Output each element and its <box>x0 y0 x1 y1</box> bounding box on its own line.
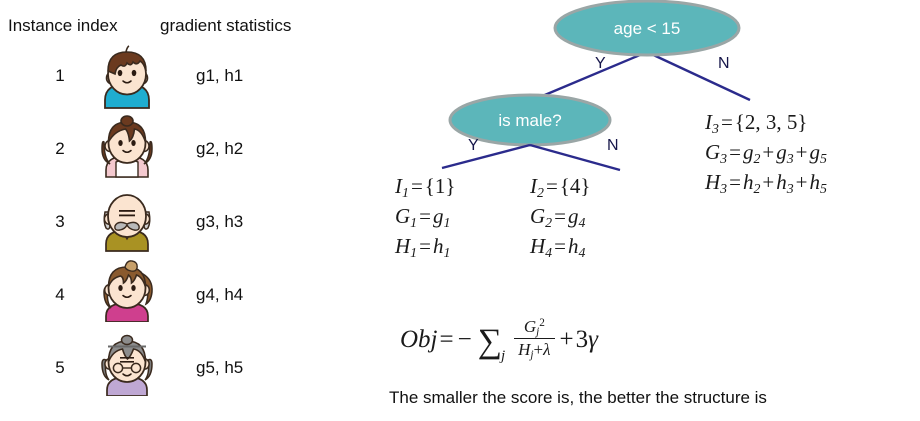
leaf-1-hessian-sum: H1=h1 <box>395 232 455 262</box>
gamma-symbol: γ <box>588 326 598 354</box>
objective-formula: Obj = − ∑ j Gj2 Hj+λ + 3 γ <box>400 318 598 361</box>
table-row-stats: g1, h1 <box>196 66 243 86</box>
table-row-index: 3 <box>40 212 80 232</box>
objective-equals: = <box>438 326 456 354</box>
leaf-3-statistics: I3={2, 3, 5} G3=g2+g3+g5 H3=h2+h3+h5 <box>705 108 827 197</box>
branch-label-child-yes: Y <box>468 137 479 155</box>
young-woman-avatar-icon <box>96 256 158 322</box>
decision-tree-graphic <box>380 0 920 200</box>
tree-node-age <box>555 1 739 55</box>
table-row-index: 2 <box>40 139 80 159</box>
table-row-index: 4 <box>40 285 80 305</box>
leaf-1-gradient-sum: G1=g1 <box>395 202 455 232</box>
summation-index: j <box>501 348 505 365</box>
leaf-2-index-set: I2={4} <box>530 172 590 202</box>
old-woman-avatar-icon <box>96 330 158 396</box>
summation-icon: ∑ <box>474 330 503 354</box>
table-row-stats: g2, h2 <box>196 139 243 159</box>
boy-avatar-icon <box>96 44 158 110</box>
branch-label-root-yes: Y <box>595 55 606 73</box>
figure-root: Instance index gradient statistics 1 g1,… <box>0 0 920 421</box>
edge-child-yes <box>442 145 530 168</box>
leaf-1-index-set: I1={1} <box>395 172 455 202</box>
table-row-index: 1 <box>40 66 80 86</box>
girl-avatar-icon <box>96 112 158 178</box>
fraction-denominator: Hj+λ <box>514 338 554 360</box>
column-header-instance-index: Instance index <box>8 16 118 36</box>
gamma-coefficient: 3 <box>576 326 589 354</box>
objective-fraction: Gj2 Hj+λ <box>514 317 554 360</box>
table-row-stats: g3, h3 <box>196 212 243 232</box>
table-row-stats: g5, h5 <box>196 358 243 378</box>
figure-caption: The smaller the score is, the better the… <box>389 388 767 408</box>
leaf-3-gradient-sum: G3=g2+g3+g5 <box>705 138 827 168</box>
leaf-2-statistics: I2={4} G2=g4 H4=h4 <box>530 172 590 261</box>
objective-minus: − <box>456 326 474 354</box>
leaf-2-gradient-sum: G2=g4 <box>530 202 590 232</box>
objective-plus: + <box>558 326 576 354</box>
branch-label-root-no: N <box>718 55 730 73</box>
table-row-index: 5 <box>40 358 80 378</box>
branch-label-child-no: N <box>607 137 619 155</box>
objective-lhs: Obj <box>400 326 438 354</box>
edge-root-yes <box>540 52 647 97</box>
table-row-stats: g4, h4 <box>196 285 243 305</box>
leaf-3-hessian-sum: H3=h2+h3+h5 <box>705 168 827 198</box>
fraction-numerator: Gj2 <box>520 317 549 338</box>
column-header-gradient-statistics: gradient statistics <box>160 16 291 36</box>
old-man-avatar-icon <box>96 186 158 252</box>
leaf-3-index-set: I3={2, 3, 5} <box>705 108 827 138</box>
leaf-1-statistics: I1={1} G1=g1 H1=h1 <box>395 172 455 261</box>
leaf-2-hessian-sum: H4=h4 <box>530 232 590 262</box>
edge-root-no <box>647 52 750 100</box>
